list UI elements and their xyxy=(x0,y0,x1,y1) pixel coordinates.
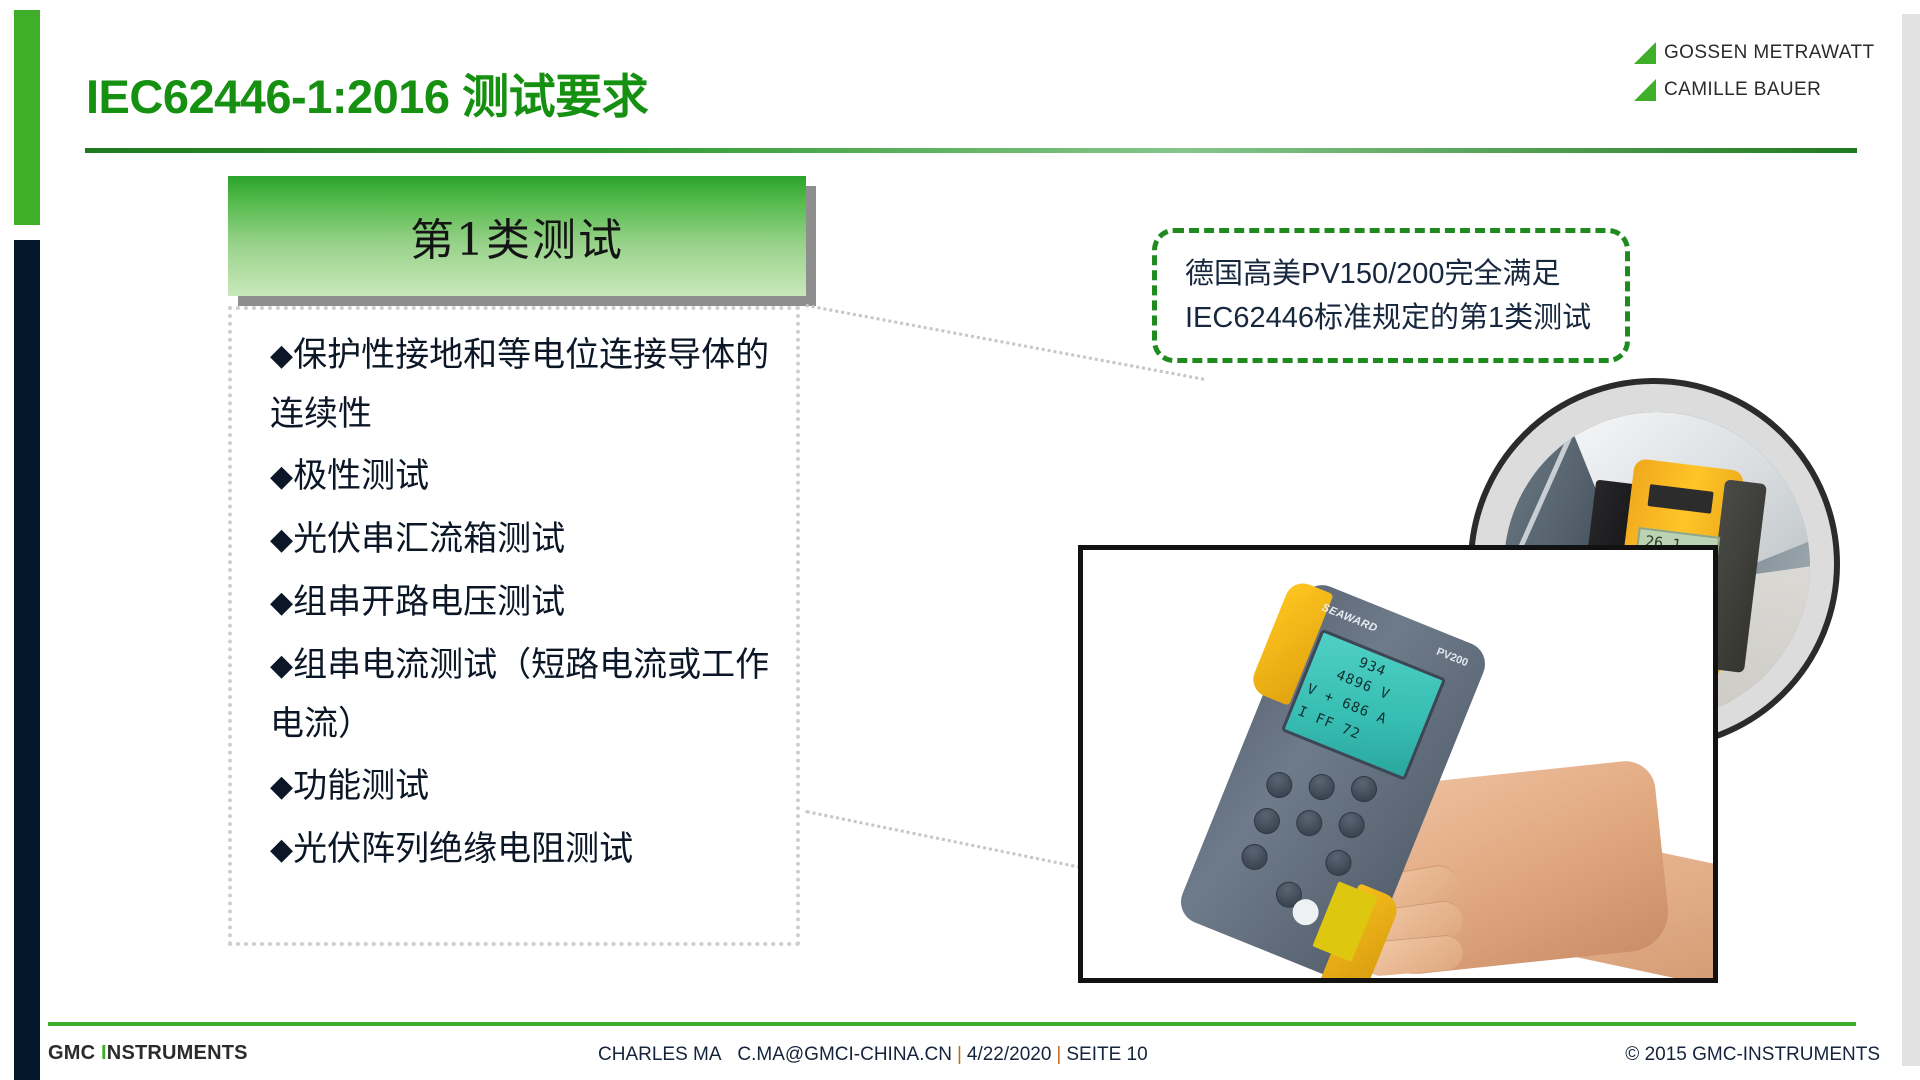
brand-name-primary: GOSSEN METRAWATT xyxy=(1664,42,1874,64)
list-item-label: 保护性接地和等电位连接导体的连续性 xyxy=(270,336,769,433)
footer-author: CHARLES MA xyxy=(598,1044,722,1065)
list-item-label: 组串电流测试（短路电流或工作电流） xyxy=(270,646,769,743)
diamond-bullet-icon: ◆ xyxy=(270,833,293,866)
category-box-face: 第1类测试 xyxy=(228,176,806,296)
diamond-bullet-icon: ◆ xyxy=(270,523,293,556)
left-edge-green-bar xyxy=(14,10,40,225)
diamond-bullet-icon: ◆ xyxy=(270,586,293,619)
brand-row-camille-bauer: CAMILLE BAUER xyxy=(1632,71,1872,108)
footer-divider xyxy=(48,1022,1856,1026)
list-item-label: 光伏串汇流箱测试 xyxy=(293,520,565,558)
list-item: ◆光伏串汇流箱测试 xyxy=(270,510,770,569)
diamond-bullet-icon: ◆ xyxy=(270,339,293,372)
title-underline xyxy=(85,148,1857,153)
list-item: ◆光伏阵列绝缘电阻测试 xyxy=(270,820,770,879)
list-item: ◆组串开路电压测试 xyxy=(270,573,770,632)
category-box-label: 第1类测试 xyxy=(410,204,624,268)
diamond-bullet-icon: ◆ xyxy=(270,770,293,803)
brand-name-secondary: CAMILLE BAUER xyxy=(1664,79,1821,101)
footer-separator: | xyxy=(1051,1044,1066,1065)
list-item-label: 组串开路电压测试 xyxy=(293,583,565,621)
footer-logo-prefix: GMC xyxy=(48,1042,101,1064)
brand-row-gossen-metrawatt: GOSSEN METRAWATT xyxy=(1632,34,1872,71)
footer-page: SEITE 10 xyxy=(1066,1044,1147,1065)
footer-date: 4/22/2020 xyxy=(967,1044,1052,1065)
rect-photo-pv200-in-hand: SEAWARD PV200 934 4896 V V + 686 A I FF … xyxy=(1078,545,1718,983)
list-item-label: 光伏阵列绝缘电阻测试 xyxy=(293,830,633,868)
callout-box: 德国高美PV150/200完全满足 IEC62446标准规定的第1类测试 xyxy=(1152,228,1630,363)
brand-triangle-icon-secondary xyxy=(1632,77,1658,103)
bullet-list: ◆保护性接地和等电位连接导体的连续性 ◆极性测试 ◆光伏串汇流箱测试 ◆组串开路… xyxy=(270,326,770,883)
list-item: ◆保护性接地和等电位连接导体的连续性 xyxy=(270,326,770,443)
right-edge-strip xyxy=(1902,14,1920,1066)
list-item: ◆功能测试 xyxy=(270,757,770,816)
category-box: 第1类测试 xyxy=(228,176,806,296)
brand-triangle-icon xyxy=(1632,40,1658,66)
footer-copyright: © 2015 GMC-INSTRUMENTS xyxy=(1625,1044,1880,1066)
list-item: ◆组串电流测试（短路电流或工作电流） xyxy=(270,636,770,753)
diamond-bullet-icon: ◆ xyxy=(270,649,293,682)
footer-separator: | xyxy=(952,1044,967,1065)
left-edge-navy-bar xyxy=(14,240,40,1080)
connector-line-top xyxy=(805,304,1204,381)
page-title: IEC62446-1:2016 测试要求 xyxy=(86,58,648,127)
brand-logo: GOSSEN METRAWATT CAMILLE BAUER xyxy=(1632,34,1872,108)
footer-logo-suffix: NSTRUMENTS xyxy=(107,1042,248,1064)
list-item: ◆极性测试 xyxy=(270,447,770,506)
footer-email: C.MA@GMCI-CHINA.CN xyxy=(737,1044,952,1065)
list-item-label: 极性测试 xyxy=(293,457,429,495)
footer-meta: CHARLES MA C.MA@GMCI-CHINA.CN|4/22/2020|… xyxy=(598,1044,1148,1066)
diamond-bullet-icon: ◆ xyxy=(270,460,293,493)
callout-line-1: 德国高美PV150/200完全满足 xyxy=(1185,252,1625,296)
list-item-label: 功能测试 xyxy=(293,767,429,805)
footer-logo: GMC INSTRUMENTS xyxy=(48,1042,248,1065)
callout-line-2: IEC62446标准规定的第1类测试 xyxy=(1185,296,1625,340)
